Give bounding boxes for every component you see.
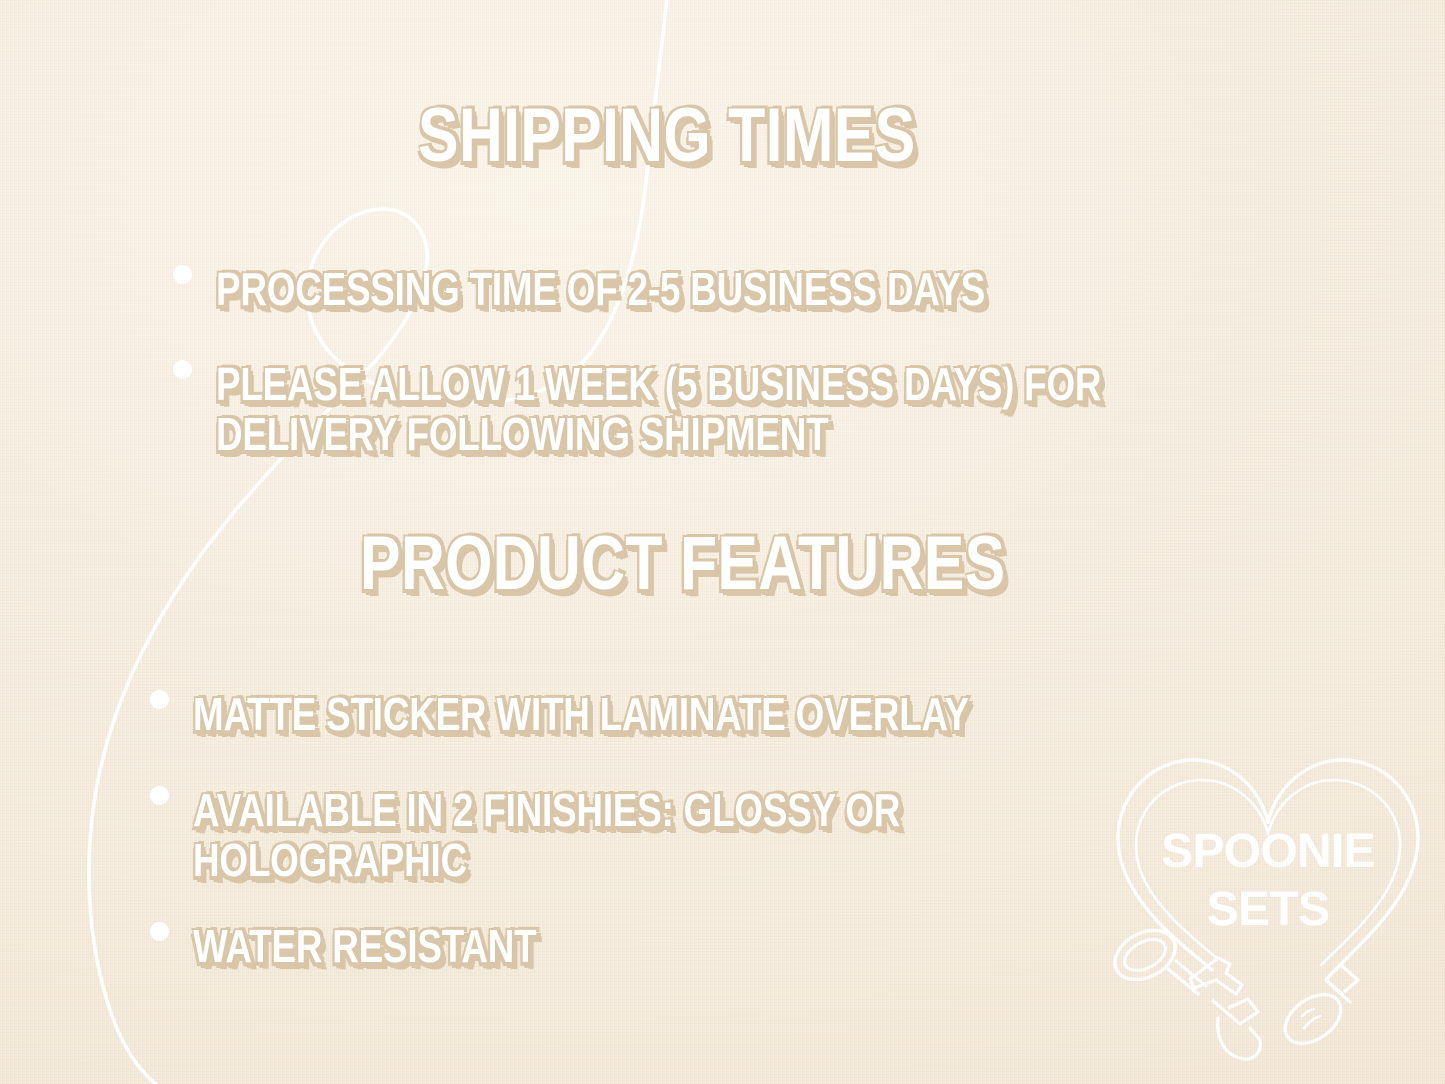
bullet-text: AVAILABLE IN 2 FINISHIES: GLOSSY OR HOLO… (193, 786, 1055, 885)
heading-product-features: PRODUCT FEATURES (360, 526, 1006, 602)
list-item: WATER RESISTANT (150, 922, 850, 972)
bullet-text: WATER RESISTANT (193, 922, 536, 972)
list-item: PROCESSING TIME OF 2-5 BUSINESS DAYS (173, 265, 1383, 315)
list-item: PLEASE ALLOW 1 WEEK (5 BUSINESS DAYS) FO… (173, 360, 1443, 459)
brand-logo: SPOONIE SETS (1090, 742, 1445, 1084)
logo-text-spoonie: SPOONIE (1090, 824, 1445, 879)
bullet-dot-icon (173, 360, 192, 379)
bullet-text: MATTE STICKER WITH LAMINATE OVERLAY (193, 690, 969, 740)
bullet-text: PLEASE ALLOW 1 WEEK (5 BUSINESS DAYS) FO… (216, 360, 1198, 459)
bullet-dot-icon (150, 690, 169, 709)
bullet-dot-icon (150, 786, 169, 805)
heading-shipping-times: SHIPPING TIMES (418, 98, 915, 174)
logo-text-sets: SETS (1090, 882, 1445, 937)
shipping-info-poster: SHIPPING TIMES PROCESSING TIME OF 2-5 BU… (0, 0, 1445, 1084)
bullet-dot-icon (173, 265, 192, 284)
bullet-text: PROCESSING TIME OF 2-5 BUSINESS DAYS (216, 265, 985, 315)
bullet-dot-icon (150, 922, 169, 941)
list-item: MATTE STICKER WITH LAMINATE OVERLAY (150, 690, 1330, 740)
